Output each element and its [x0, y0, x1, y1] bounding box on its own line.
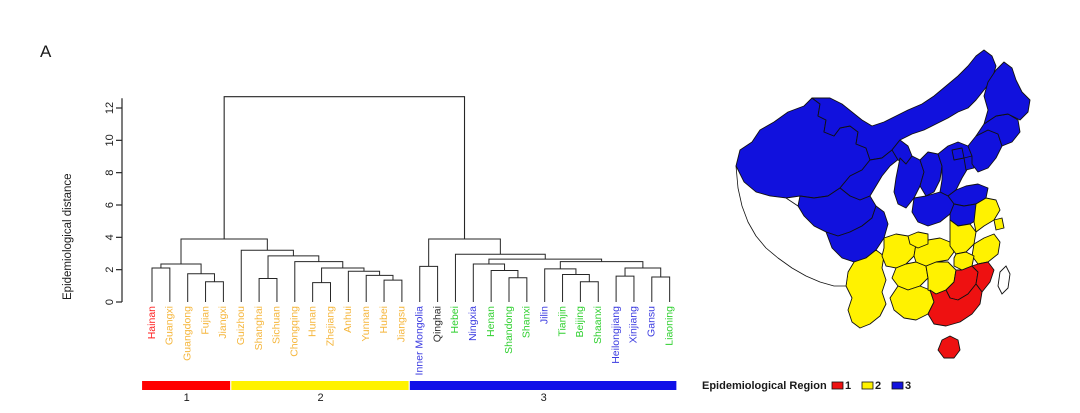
dendrogram-leaf-label: Ningxia: [467, 306, 479, 341]
cluster-color-bar: 123: [142, 381, 676, 404]
dendrogram-leaf-label: Jiangxi: [217, 306, 229, 339]
dendrogram-leaf-label: Gansu: [646, 306, 658, 337]
dendrogram-link: [366, 275, 393, 302]
y-axis: 024681012: [104, 98, 122, 305]
dendrogram-leaf-labels: HainanGuangxiGuangdongFujianJiangxiGuizh…: [146, 306, 676, 376]
dendrogram-link: [616, 276, 634, 302]
dendrogram-leaf-label: Beijing: [574, 306, 586, 338]
dendrogram-leaf-label: Yunnan: [360, 306, 372, 342]
dendrogram-link: [181, 239, 267, 264]
dendrogram-link: [491, 270, 518, 302]
cluster-bar-label: 1: [184, 392, 190, 404]
dendrogram-leaf-label: Guangxi: [164, 306, 176, 345]
dendrogram-link: [473, 264, 504, 302]
cluster-bar-segment: [142, 381, 230, 390]
dendrogram-tree: [152, 97, 670, 302]
dendrogram-link: [206, 282, 224, 302]
map-legend-label: 2: [875, 380, 881, 392]
dendrogram-leaf-label: Hebei: [449, 306, 461, 333]
dendrogram-link: [313, 283, 331, 302]
map-province-shanghai: [994, 218, 1004, 230]
map-legend-swatch: [892, 382, 903, 389]
dendrogram-link: [161, 264, 201, 274]
dendrogram-link: [188, 274, 215, 302]
dendrogram-leaf-label: Zhejiang: [324, 306, 336, 346]
dendrogram-leaf-label: Sichuan: [271, 306, 283, 344]
china-region-map: Epidemiological Region123: [700, 0, 1080, 413]
cluster-bar-label: 2: [318, 392, 324, 404]
dendrogram-leaf-label: Jilin: [538, 306, 550, 324]
dendrogram-leaf-label: Shandong: [503, 306, 515, 354]
map-province-beijing: [952, 148, 964, 160]
map-province-guangxi: [890, 286, 934, 320]
panel-a-dendrogram: A Epidemiological distance 024681012 Hai…: [0, 0, 700, 413]
dendrogram-leaf-label: Heilongjiang: [610, 306, 622, 364]
dendrogram-leaf-label: Fujian: [199, 306, 211, 335]
dendrogram-link: [580, 282, 598, 302]
y-axis-tick-label: 12: [104, 102, 116, 114]
map-province-hainan: [938, 336, 960, 358]
dendrogram-leaf-label: Guizhou: [235, 306, 247, 345]
dendrogram-leaf-label: Hunan: [306, 306, 318, 337]
map-province-liaoning: [968, 130, 1002, 172]
dendrogram-leaf-label: Hainan: [146, 306, 158, 339]
cluster-bar-segment: [410, 381, 677, 390]
dendrogram-link: [455, 254, 545, 302]
map-province-taiwan-group: [998, 266, 1010, 294]
dendrogram-link: [625, 268, 661, 277]
dendrogram-link: [384, 280, 402, 302]
dendrogram-link: [152, 268, 170, 302]
dendrogram-leaf-label: Hubei: [378, 306, 390, 333]
y-axis-tick-label: 0: [104, 299, 116, 305]
dendrogram-link: [224, 97, 464, 239]
y-axis-tick-label: 2: [104, 267, 116, 273]
dendrogram-link: [420, 266, 438, 302]
map-legend-swatch: [832, 382, 843, 389]
dendrogram-leaf-label: Guangdong: [181, 306, 193, 361]
dendrogram-link: [259, 279, 277, 302]
dendrogram-leaf-label: Shanghai: [253, 306, 265, 350]
dendrogram-leaf-label: Henan: [485, 306, 497, 337]
dendrogram-link: [268, 256, 319, 279]
dendrogram-link: [652, 277, 670, 302]
map-legend-title: Epidemiological Region: [702, 380, 827, 392]
dendrogram-plot: 024681012 HainanGuangxiGuangdongFujianJi…: [0, 0, 700, 413]
map-province-henan: [912, 192, 954, 226]
map-legend-label: 1: [845, 380, 851, 392]
dendrogram-leaf-label: Chongqing: [289, 306, 301, 357]
dendrogram-link: [545, 269, 576, 302]
cluster-bar-segment: [231, 381, 408, 390]
dendrogram-leaf-label: Tianjin: [556, 306, 568, 337]
map-province-zhejiang: [972, 234, 1000, 264]
dendrogram-link: [509, 278, 527, 302]
map-province-anhui: [950, 220, 976, 254]
dendrogram-link: [241, 250, 293, 302]
y-axis-tick-label: 4: [104, 234, 116, 240]
y-axis-tick-label: 6: [104, 202, 116, 208]
map-legend: Epidemiological Region123: [702, 380, 911, 392]
y-axis-tick-label: 8: [104, 170, 116, 176]
dendrogram-link: [429, 239, 501, 266]
dendrogram-leaf-label: Jiangsu: [396, 306, 408, 342]
dendrogram-link: [322, 268, 364, 283]
dendrogram-leaf-label: Inner Mongolia: [414, 306, 426, 376]
dendrogram-leaf-label: Shaanxi: [592, 306, 604, 344]
dendrogram-leaf-label: Anhui: [342, 306, 354, 333]
map-province-shanxi: [920, 152, 942, 196]
map-legend-label: 3: [905, 380, 911, 392]
dendrogram-link: [348, 271, 379, 302]
figure-root: A Epidemiological distance 024681012 Hai…: [0, 0, 1080, 413]
cluster-bar-label: 3: [541, 392, 547, 404]
dendrogram-leaf-label: Xinjiang: [628, 306, 640, 344]
map-province-taiwan: [998, 266, 1010, 294]
map-legend-swatch: [862, 382, 873, 389]
dendrogram-leaf-label: Qinghai: [431, 306, 443, 342]
dendrogram-link: [563, 275, 590, 302]
panel-b-map: B: [700, 0, 1080, 413]
dendrogram-leaf-label: Shanxi: [521, 306, 533, 338]
dendrogram-leaf-label: Liaoning: [663, 306, 675, 346]
y-axis-tick-label: 10: [104, 134, 116, 146]
